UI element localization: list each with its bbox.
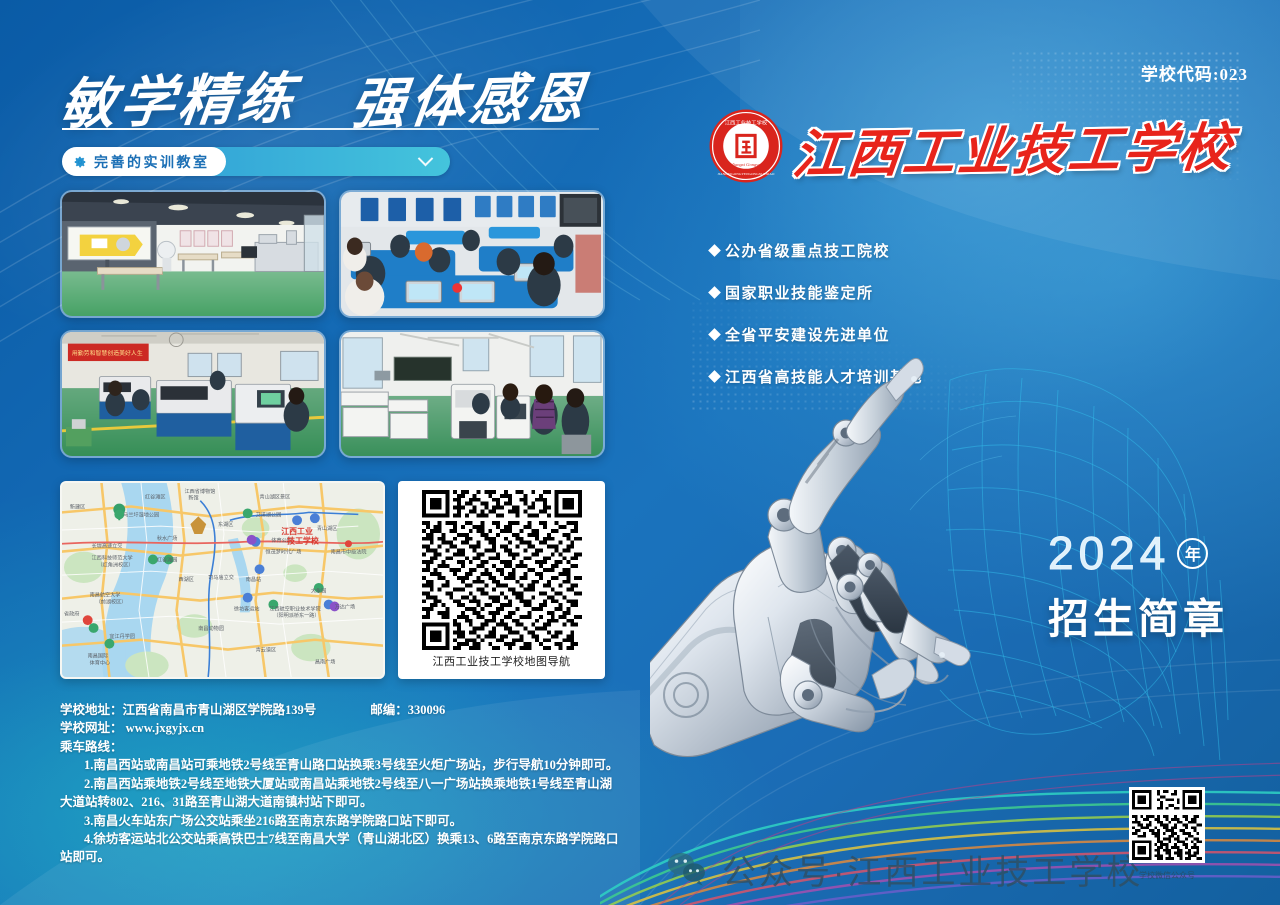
svg-text:技工学校: 技工学校 <box>287 536 319 546</box>
poster-canvas: 敏学精练 强体感恩 完善的实训教室 <box>0 0 1280 905</box>
year-brochure-block: 2024 年 招生简章 <box>1048 530 1228 645</box>
svg-text:南昌动物园: 南昌动物园 <box>198 625 224 632</box>
photo-training-classroom <box>60 190 326 318</box>
svg-text:秋水广场: 秋水广场 <box>157 535 178 542</box>
svg-text:江西航空职业技术学院: 江西航空职业技术学院 <box>269 605 320 612</box>
svg-text:红谷滩园: 红谷滩园 <box>157 556 178 563</box>
svg-text:青山湖区景区: 青山湖区景区 <box>260 494 291 501</box>
map-qr-code[interactable] <box>417 490 587 650</box>
route-item: 1.南昌西站或南昌站可乘地铁2号线至青山路口站换乘3号线至火炬广场站，步行导航1… <box>60 757 620 775</box>
year-number: 2024 <box>1048 530 1170 576</box>
svg-text:南昌航空大学: 南昌航空大学 <box>90 592 121 599</box>
address-label: 学校地址： <box>60 702 123 720</box>
map-school-marker: 江西工业 技工学校 <box>281 526 321 548</box>
website-row: 学校网址： www.jxgyjx.cn <box>60 720 620 738</box>
svg-text:江西省博物馆: 江西省博物馆 <box>184 488 215 495</box>
chevron-down-icon[interactable] <box>418 151 434 167</box>
zip-value: 330096 <box>408 702 446 720</box>
photo-computer-lab <box>339 190 605 318</box>
svg-text:用勤劳和智慧创造美好人生: 用勤劳和智慧创造美好人生 <box>72 349 143 357</box>
wechat-qr-code[interactable] <box>1129 787 1205 863</box>
calligraphy-slogan: 敏学精练 强体感恩 <box>62 52 602 130</box>
photo-cnc-workshop: 用勤劳和智慧创造美好人生 <box>60 330 326 458</box>
brand-lockup: 江西工业技工学校 Jiangxi Gongye JIANGXIGONGYEJIG… <box>708 108 1234 184</box>
honor-label: 公办省级重点技工院校 <box>725 240 890 261</box>
svg-text:万达广场: 万达广场 <box>335 603 356 610</box>
svg-text:南昌站: 南昌站 <box>246 576 261 583</box>
zip-label: 邮编： <box>370 702 408 720</box>
photo-electronics-lab <box>339 330 605 458</box>
year-suffix-badge: 年 <box>1177 538 1208 569</box>
svg-text:艾溪湖公园: 艾溪湖公园 <box>256 511 282 518</box>
svg-text:大象园: 大象园 <box>311 588 326 595</box>
route-item: 3.南昌火车站东广场公交站乘坐216路至南京东路学院路口站下即可。 <box>60 813 620 831</box>
diamond-bullet-icon <box>708 286 721 299</box>
svg-text:恒茂梦时代广场: 恒茂梦时代广场 <box>265 549 301 556</box>
section-header-training-rooms[interactable]: 完善的实训教室 <box>62 147 450 176</box>
photo-grid: 用勤劳和智慧创造美好人生 <box>60 190 605 462</box>
svg-text:西湖区: 西湖区 <box>179 576 194 583</box>
svg-text:（阳明派桥东一路）: （阳明派桥东一路） <box>273 612 319 619</box>
diamond-bullet-icon <box>708 244 721 257</box>
svg-text:体育中心: 体育中心 <box>90 659 111 666</box>
slogan-divider <box>62 128 599 130</box>
website-value[interactable]: www.jxgyjx.cn <box>126 721 204 735</box>
wechat-label: 公众号·江西工业技工学校 <box>722 845 1143 894</box>
route-item: 2.南昌西站乘地铁2号线至地铁大厦站或南昌站乘地铁2号线至八一广场站换乘地铁1号… <box>60 776 620 812</box>
right-panel: 学校代码:023 江西工业技工学校 Jiangxi Gongye JIANGXI… <box>640 0 1280 905</box>
brochure-title: 招生简章 <box>1048 585 1228 645</box>
svg-text:东湖区: 东湖区 <box>218 521 233 528</box>
svg-text:新馆: 新馆 <box>188 495 198 502</box>
year-row: 2024 年 <box>1048 530 1228 576</box>
map-qr-card[interactable]: 江西工业技工学校地图导航 <box>398 481 605 679</box>
svg-text:Jiangxi Gongye: Jiangxi Gongye <box>732 162 761 167</box>
left-panel: 敏学精练 强体感恩 完善的实训教室 <box>0 0 640 905</box>
diamond-bullet-icon <box>708 328 721 341</box>
svg-text:司马庙立交: 司马庙立交 <box>208 574 234 581</box>
route-item: 4.徐坊客运站北公交站乘高铁巴士7线至南昌大学（青山湖北区）换乘13、6路至南京… <box>60 831 620 867</box>
svg-text:（前湖校区）: （前湖校区） <box>96 599 127 606</box>
map-nanchang[interactable]: 新建区 红谷滩区 江西省博物馆 新馆 东湖区 青山湖区景区 艾溪湖公园 青山湖区… <box>60 481 385 679</box>
honor-item: 公办省级重点技工院校 <box>710 240 923 261</box>
svg-text:马兰圩湿地公园: 马兰圩湿地公园 <box>123 511 159 518</box>
svg-text:徐坊客运站: 徐坊客运站 <box>234 605 260 612</box>
section-label: 完善的实训教室 <box>94 152 210 172</box>
school-name: 江西工业技工学校 <box>790 105 1239 188</box>
svg-text:南昌市中级法院: 南昌市中级法院 <box>331 549 367 556</box>
routes-title: 乘车路线： <box>60 739 620 757</box>
svg-text:宜江丹学园: 宜江丹学园 <box>109 633 135 640</box>
svg-text:南昌国际: 南昌国际 <box>88 652 109 659</box>
svg-text:（红角洲校区）: （红角洲校区） <box>98 561 134 568</box>
wechat-icon <box>666 851 708 887</box>
school-code: 学校代码:023 <box>1141 60 1248 85</box>
svg-text:新建区: 新建区 <box>70 503 85 510</box>
svg-text:江西工业: 江西工业 <box>281 526 313 536</box>
slogan-line-2: 强体感恩 <box>347 53 593 140</box>
address-row: 学校地址： 江西省南昌市青山湖区学院路139号 邮编： 330096 <box>60 702 620 720</box>
svg-text:省政府: 省政府 <box>64 610 79 617</box>
honor-label: 国家职业技能鉴定所 <box>725 282 874 303</box>
svg-text:红谷滩区: 红谷滩区 <box>145 494 166 501</box>
honor-item: 国家职业技能鉴定所 <box>710 282 923 303</box>
svg-text:长堤高速立交: 长堤高速立交 <box>92 543 123 550</box>
website-label: 学校网址： <box>60 721 123 735</box>
contact-block: 学校地址： 江西省南昌市青山湖区学院路139号 邮编： 330096 学校网址：… <box>60 702 620 867</box>
school-seal-logo: 江西工业技工学校 Jiangxi Gongye JIANGXIGONGYEJIG… <box>708 108 784 184</box>
honor-label: 全省平安建设先进单位 <box>725 324 890 345</box>
map-qr-caption: 江西工业技工学校地图导航 <box>433 653 571 669</box>
wechat-qr-caption: 学校微信公众号 <box>1117 870 1217 881</box>
section-chip: 完善的实训教室 <box>62 147 226 176</box>
gear-icon <box>73 155 87 169</box>
svg-text:昌南广场: 昌南广场 <box>315 658 336 665</box>
address-value: 江西省南昌市青山湖区学院路139号 <box>123 702 317 720</box>
svg-text:青云谱区: 青云谱区 <box>256 647 277 654</box>
svg-text:江西科技师范大学: 江西科技师范大学 <box>92 554 133 561</box>
svg-text:JIANGXIGONGYEJIGONGXUEXIAO: JIANGXIGONGYEJIGONGXUEXIAO <box>718 172 775 176</box>
